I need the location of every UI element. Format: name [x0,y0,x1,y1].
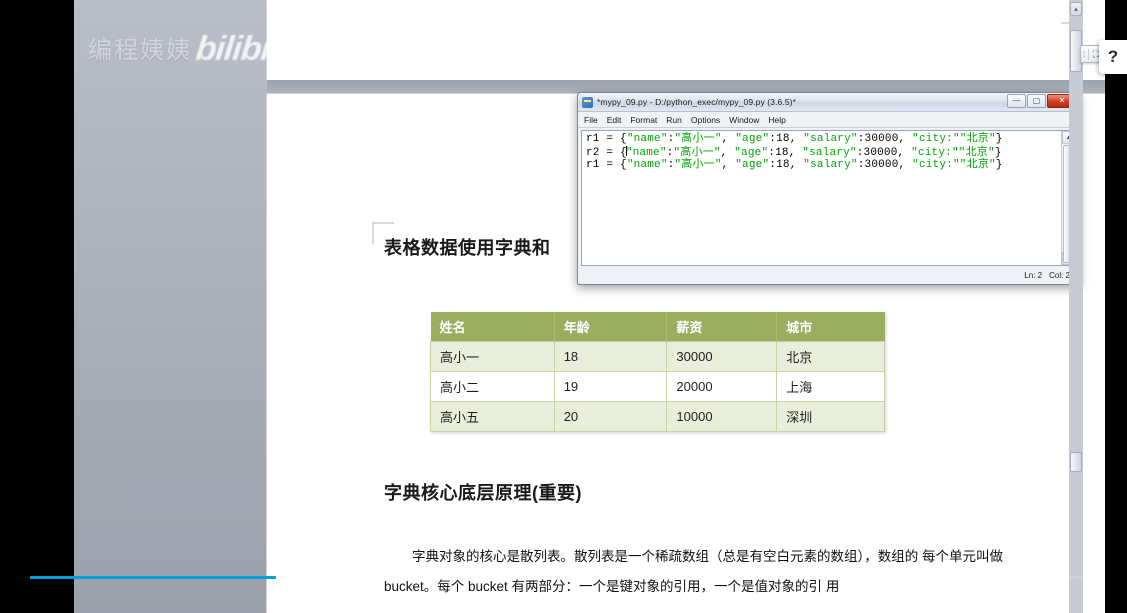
idle-editor-body[interactable]: r1 = {"name":"高小一", "age":18, "salary":3… [581,130,1076,266]
code-key-city: "city:" [912,133,960,145]
table-header-salary: 薪资 [667,312,777,342]
python-idle-window[interactable]: *mypy_09.py - D:/python_exec/mypy_09.py … [577,92,1080,285]
maximize-button[interactable]: ▢ [1027,94,1046,108]
table-header-row: 姓名 年龄 薪资 城市 [431,312,885,342]
code-value-city: "北京" [960,133,996,145]
cell-name: 高小五 [431,402,555,432]
code-key-name: "name" [627,159,668,171]
table-row: 高小一 18 30000 北京 [431,342,885,372]
code-editor-area[interactable]: r1 = {"name":"高小一", "age":18, "salary":3… [582,131,1061,265]
code-sep: , [790,133,804,145]
idle-window-title: *mypy_09.py - D:/python_exec/mypy_09.py … [597,97,796,107]
word-app-canvas: 表格数据使用字典和 姓名 年龄 薪资 城市 高小一 18 30000 [74,0,1105,613]
table-header-city: 城市 [777,312,885,342]
code-suffix: } [995,147,1002,159]
window-controls[interactable]: — ▢ ✕ [1007,94,1077,108]
code-sep: , [789,147,803,159]
code-value-name: "高小一" [674,133,721,145]
python-idle-icon [582,97,593,108]
code-sep: , [722,133,736,145]
idle-status-bar: Ln: 2 Col: 2 [581,268,1076,283]
video-player-stage: 表格数据使用字典和 姓名 年龄 薪资 城市 高小一 18 30000 [0,0,1127,613]
cell-name: 高小一 [431,342,555,372]
code-colon: : [858,133,865,145]
cell-age: 18 [554,342,667,372]
code-sep: , [790,159,804,171]
table-header-name: 姓名 [431,312,555,342]
paragraph-line-3: 用 [826,579,840,594]
status-line-number: Ln: 2 [1024,271,1042,280]
menu-item-format[interactable]: Format [630,115,657,125]
code-key-salary: "salary" [803,159,857,171]
cell-city: 深圳 [777,402,885,432]
toolbar-divider [1088,49,1089,60]
code-key-age: "age" [734,147,768,159]
cell-city: 上海 [777,372,885,402]
menu-item-options[interactable]: Options [691,115,720,125]
channel-watermark: 编程姨姨 [88,30,192,65]
code-value-city: "北京" [959,147,995,159]
heading-dict-internals: 字典核心底层原理(重要) [384,479,582,505]
paragraph-line-1: 字典对象的核心是散列表。散列表是一个稀疏数组（总是有空白元素的数组），数组的 [412,549,918,564]
code-suffix: } [996,159,1003,171]
cell-city: 北京 [777,342,885,372]
code-sep: , [898,147,912,159]
word-scroll-marker[interactable] [1070,452,1082,472]
word-vertical-scrollbar[interactable]: ▴ [1069,0,1083,613]
cell-salary: 30000 [667,342,777,372]
menu-item-window[interactable]: Window [729,115,759,125]
code-line-3: r1 = {"name":"高小一", "age":18, "salary":3… [586,159,1061,172]
table-header-age: 年龄 [554,312,667,342]
code-prefix: r1 = { [586,159,627,171]
video-letterbox-left [0,0,74,613]
player-progress-track[interactable] [30,576,1100,579]
code-key-name: "name" [626,147,667,159]
code-line-2: r2 = {"name":"高小一", "age":18, "salary":3… [586,146,1061,160]
code-value-salary: 30000 [864,147,898,159]
table-row: 高小二 19 20000 上海 [431,372,885,402]
code-line-1: r1 = {"name":"高小一", "age":18, "salary":3… [586,133,1061,146]
menu-item-file[interactable]: File [584,115,598,125]
video-letterbox-right [1105,0,1127,613]
code-value-age: 18 [776,159,790,171]
code-sep: , [721,147,735,159]
cell-age: 19 [554,372,667,402]
document-page-previous [267,0,1105,80]
code-sep: , [722,159,736,171]
cell-age: 20 [554,402,667,432]
table-row: 高小五 20 10000 深圳 [431,402,885,432]
code-prefix: r1 = { [586,133,627,145]
idle-title-bar[interactable]: *mypy_09.py - D:/python_exec/mypy_09.py … [578,93,1079,112]
cell-salary: 20000 [667,372,777,402]
minimize-button[interactable]: — [1007,94,1026,108]
menu-item-help[interactable]: Help [768,115,785,125]
heading-table-data: 表格数据使用字典和 [384,234,551,260]
body-paragraph: 字典对象的核心是散列表。散列表是一个稀疏数组（总是有空白元素的数组），数组的 每… [384,542,1004,602]
toolbar-grip-handle[interactable]: ⁞ [1083,50,1086,59]
code-value-name: "高小一" [674,159,721,171]
code-colon: : [858,159,865,171]
code-value-age: 18 [776,133,790,145]
player-progress-fill[interactable] [30,576,276,579]
status-column-number: Col: 2 [1049,271,1070,280]
code-value-age: 18 [775,147,789,159]
code-key-city: "city:" [912,159,960,171]
employee-table: 姓名 年龄 薪资 城市 高小一 18 30000 北京 高小二 [430,312,885,432]
code-sep: , [899,133,913,145]
code-key-age: "age" [735,133,769,145]
code-suffix: } [996,133,1003,145]
code-key-salary: "salary" [802,147,856,159]
code-sep: , [899,159,913,171]
code-value-salary: 30000 [865,133,899,145]
help-bubble-icon[interactable]: ? [1099,40,1127,74]
code-key-city: "city:" [911,147,959,159]
code-colon: : [857,147,864,159]
code-key-age: "age" [735,159,769,171]
idle-menu-bar[interactable]: File Edit Format Run Options Window Help [578,112,1079,128]
menu-item-run[interactable]: Run [666,115,682,125]
page-corner-mark-top-left [372,222,394,244]
code-prefix: r2 = { [586,147,627,159]
menu-item-edit[interactable]: Edit [607,115,622,125]
code-value-name: "高小一" [673,147,720,159]
code-value-salary: 30000 [865,159,899,171]
code-key-salary: "salary" [803,133,857,145]
bilibili-logo-watermark: bilibili [194,30,288,69]
cell-name: 高小二 [431,372,555,402]
scrollbar-split-box-icon[interactable]: ▴ [1070,2,1082,16]
code-key-name: "name" [627,133,668,145]
code-value-city: "北京" [960,159,996,171]
cell-salary: 10000 [667,402,777,432]
